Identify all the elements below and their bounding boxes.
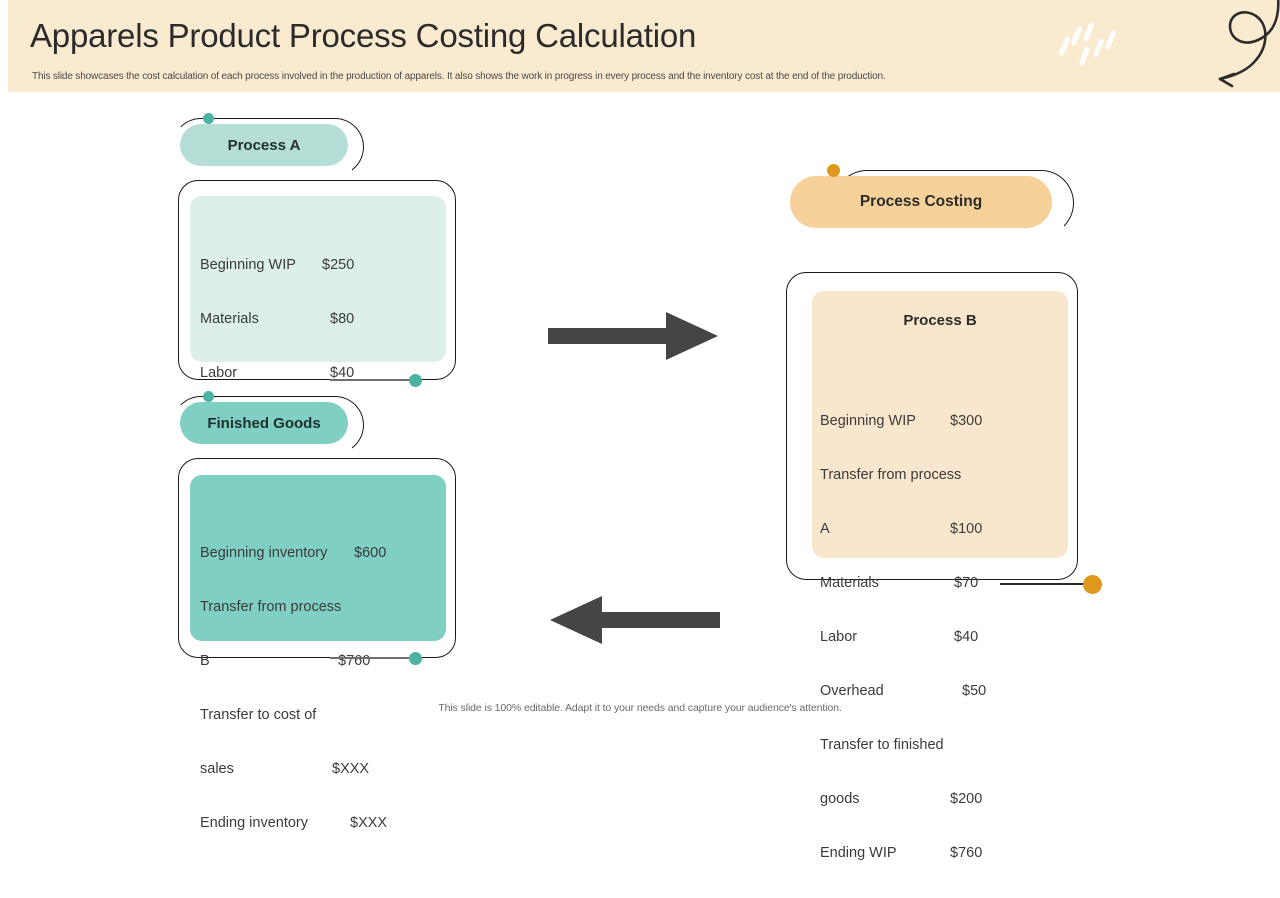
finished-goods-bottom-connector [330, 657, 416, 659]
process-a-bottom-dot [409, 374, 422, 387]
arrow-right-icon [548, 310, 720, 362]
dash-marks-icon [1060, 20, 1130, 72]
footer-note: This slide is 100% editable. Adapt it to… [0, 702, 1280, 714]
process-a-tab-mask [180, 166, 352, 178]
stat-row: B$760 [200, 652, 444, 670]
stat-row: A$100 [820, 520, 1070, 538]
slide-header: Apparels Product Process Costing Calcula… [8, 0, 1280, 92]
process-a-bottom-connector [330, 379, 416, 381]
finished-goods-bottom-dot [409, 652, 422, 665]
finished-goods-stats: Beginning inventory$600 Transfer from pr… [200, 508, 444, 868]
stat-row: sales$XXX [200, 760, 444, 778]
process-costing-pill[interactable]: Process Costing [790, 176, 1052, 228]
page-subtitle: This slide showcases the cost calculatio… [32, 71, 886, 82]
process-costing-top-dot [827, 164, 840, 177]
process-a-top-dot [203, 113, 214, 124]
stat-row: Transfer from process [200, 598, 444, 616]
slide-canvas: Process A Beginning WIP$250 Materials$80… [0, 92, 1280, 720]
stat-row: Beginning inventory$600 [200, 544, 444, 562]
process-a-pill-label: Process A [228, 137, 301, 154]
process-b-bottom-connector [1000, 583, 1088, 585]
stat-row: Materials$80 [200, 310, 440, 328]
finished-goods-pill[interactable]: Finished Goods [180, 402, 348, 444]
process-b-bottom-dot [1083, 575, 1102, 594]
stat-row: Ending inventory$XXX [200, 814, 444, 832]
process-b-title: Process B [812, 312, 1068, 329]
stat-row: Transfer to finished [820, 736, 1070, 754]
finished-goods-top-dot [203, 391, 214, 402]
stat-row: Transfer from process [820, 466, 1070, 484]
process-b-stats: Beginning WIP$300 Transfer from process … [820, 376, 1070, 898]
process-a-pill[interactable]: Process A [180, 124, 348, 166]
stat-row: goods$200 [820, 790, 1070, 808]
stat-row: Beginning WIP$250 [200, 256, 440, 274]
stat-row: Overhead$50 [820, 682, 1070, 700]
finished-goods-tab-mask [180, 444, 352, 456]
arrow-left-icon [548, 594, 720, 646]
curl-arrow-icon [1176, 0, 1280, 92]
process-costing-pill-label: Process Costing [860, 193, 982, 211]
stat-row: Ending WIP$760 [820, 844, 1070, 862]
stat-row: Beginning WIP$300 [820, 412, 1070, 430]
page-title: Apparels Product Process Costing Calcula… [30, 17, 696, 55]
stat-row: Labor$40 [820, 628, 1070, 646]
finished-goods-pill-label: Finished Goods [207, 415, 320, 432]
